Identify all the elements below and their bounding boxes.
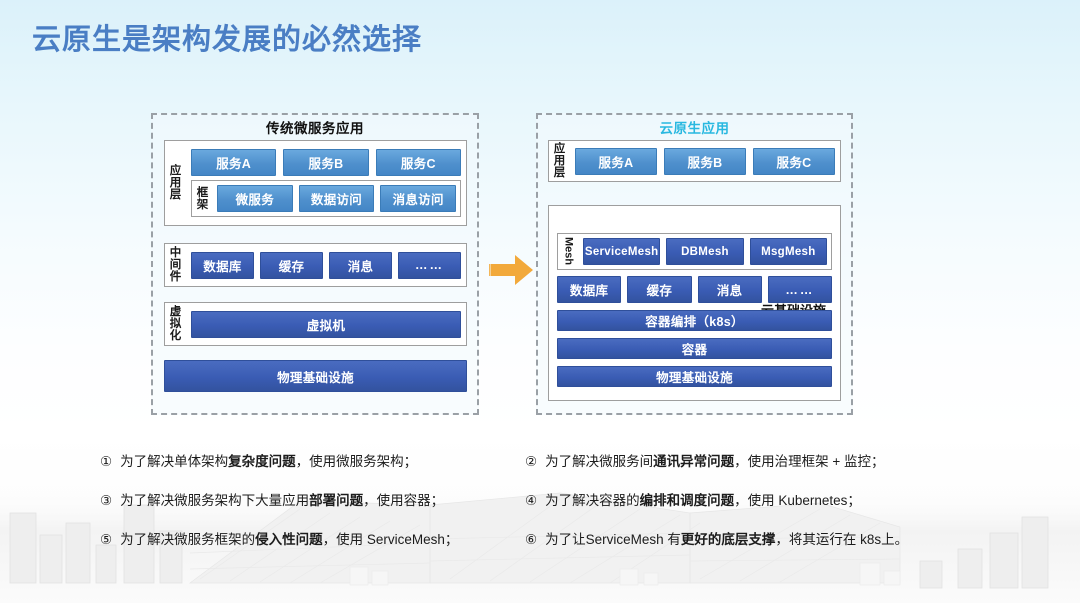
bullet-right-number: ② [525,452,537,472]
framework-group: 框架 微服务 数据访问 消息访问 [191,180,461,217]
chip-data-access[interactable]: 数据访问 [299,185,375,212]
left-panel-title: 传统微服务应用 [153,120,477,138]
bullet-left-item: ⑤为了解决微服务框架的侵入性问题，使用 ServiceMesh； [100,530,530,550]
bullet-left-number: ① [100,452,112,472]
chip-db-mesh[interactable]: DBMesh [666,238,743,265]
chip-message[interactable]: 消息 [329,252,392,279]
right-arrow-icon [489,253,535,287]
chip-cloud-physical-infrastructure[interactable]: 物理基础设施 [557,366,832,387]
bullet-left-text: 为了解决微服务框架的侵入性问题，使用 ServiceMesh； [120,530,458,550]
framework-label: 框架 [192,181,213,216]
left-app-layer-label: 应用层 [165,141,186,225]
chip-cloud-service-a[interactable]: 服务A [575,148,657,175]
chip-msg-mesh[interactable]: MsgMesh [750,238,827,265]
right-panel-title: 云原生应用 [538,120,851,138]
bullet-left-number: ⑤ [100,530,112,550]
chip-service-mesh[interactable]: ServiceMesh [583,238,660,265]
chip-cloud-cache[interactable]: 缓存 [627,276,691,303]
bullet-right-text: 为了让ServiceMesh 有更好的底层支撑，将其运行在 k8s上。 [545,530,908,550]
chip-message-access[interactable]: 消息访问 [380,185,456,212]
cloud-infrastructure-group: 云基础设施 Mesh ServiceMesh DBMesh MsgMesh 数据… [548,205,841,401]
chip-virtual-machine[interactable]: 虚拟机 [191,311,461,338]
bullet-right-number: ④ [525,491,537,511]
bullet-right-text: 为了解决微服务间通讯异常问题，使用治理框架 + 监控； [545,452,884,472]
chip-database[interactable]: 数据库 [191,252,254,279]
chip-physical-infrastructure[interactable]: 物理基础设施 [164,360,467,392]
bullets-left-column: ①为了解决单体架构复杂度问题，使用微服务架构；③为了解决微服务架构下大量应用部署… [100,452,530,569]
chip-cloud-more[interactable]: …… [768,276,832,303]
bullet-left-item: ①为了解决单体架构复杂度问题，使用微服务架构； [100,452,530,472]
chip-cloud-service-b[interactable]: 服务B [664,148,746,175]
page-title: 云原生是架构发展的必然选择 [32,16,422,58]
bullet-right-item: ④为了解决容器的编排和调度问题，使用 Kubernetes； [525,491,985,511]
chip-cloud-service-c[interactable]: 服务C [753,148,835,175]
chip-cache[interactable]: 缓存 [260,252,323,279]
left-physical-infrastructure-bar[interactable]: 物理基础设施 [164,360,467,392]
bullet-left-item: ③为了解决微服务架构下大量应用部署问题，使用容器； [100,491,530,511]
chip-cloud-database[interactable]: 数据库 [557,276,621,303]
chip-service-b[interactable]: 服务B [283,149,368,176]
bullet-right-item: ⑥为了让ServiceMesh 有更好的底层支撑，将其运行在 k8s上。 [525,530,985,550]
cloud-native-architecture-panel: 云原生应用 应用层 服务A 服务B 服务C 框架下沉 云基础设施 Mesh Se… [536,113,853,415]
cloud-stack: 容器编排（k8s） 容器 物理基础设施 [557,310,832,387]
bullet-right-text: 为了解决容器的编排和调度问题，使用 Kubernetes； [545,491,861,511]
virtualization-label: 虚拟化 [165,303,186,345]
bullets-right-column: ②为了解决微服务间通讯异常问题，使用治理框架 + 监控；④为了解决容器的编排和调… [525,452,985,569]
bullet-left-text: 为了解决微服务架构下大量应用部署问题，使用容器； [120,491,444,511]
chip-more[interactable]: …… [398,252,461,279]
right-app-layer-label: 应用层 [549,141,570,181]
middleware-group: 中间件 数据库 缓存 消息 …… [164,243,467,287]
chip-container-orchestration[interactable]: 容器编排（k8s） [557,310,832,331]
virtualization-group: 虚拟化 虚拟机 [164,302,467,346]
chip-service-a[interactable]: 服务A [191,149,276,176]
chip-service-c[interactable]: 服务C [376,149,461,176]
left-application-layer-group: 应用层 服务A 服务B 服务C 框架 微服务 数据访问 消息访问 [164,140,467,226]
middleware-label: 中间件 [165,244,186,286]
traditional-architecture-panel: 传统微服务应用 应用层 服务A 服务B 服务C 框架 微服务 数据访问 消息访问… [151,113,479,415]
cloud-middleware-row: 数据库 缓存 消息 …… [557,276,832,303]
bullet-left-number: ③ [100,491,112,511]
mesh-label: Mesh [558,234,579,269]
bullet-right-item: ②为了解决微服务间通讯异常问题，使用治理框架 + 监控； [525,452,985,472]
bullet-right-number: ⑥ [525,530,537,550]
bullet-left-text: 为了解决单体架构复杂度问题，使用微服务架构； [120,452,417,472]
chip-cloud-message[interactable]: 消息 [698,276,762,303]
chip-microservice[interactable]: 微服务 [217,185,293,212]
right-application-layer-group: 应用层 服务A 服务B 服务C [548,140,841,182]
chip-container[interactable]: 容器 [557,338,832,359]
mesh-group: Mesh ServiceMesh DBMesh MsgMesh [557,233,832,270]
